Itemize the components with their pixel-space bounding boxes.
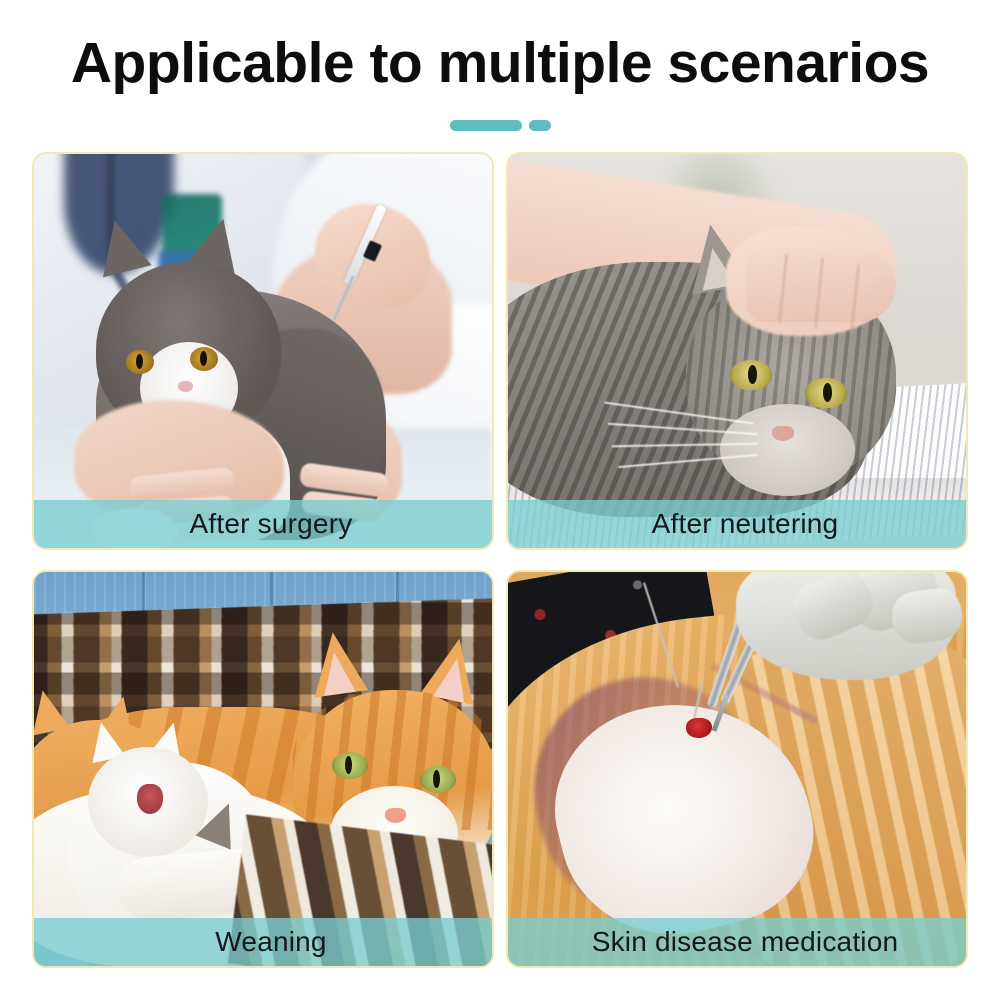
promo-page: Applicable to multiple scenarios bbox=[0, 0, 1000, 1000]
scenario-grid: After surgery bbox=[32, 152, 968, 980]
scenario-card-weaning[interactable]: Weaning bbox=[32, 570, 494, 968]
card-caption-text: Weaning bbox=[215, 926, 326, 958]
page-title: Applicable to multiple scenarios bbox=[0, 34, 1000, 94]
card-caption-bar: Weaning bbox=[34, 918, 492, 966]
photo-after-surgery bbox=[34, 154, 492, 548]
page-header: Applicable to multiple scenarios bbox=[0, 0, 1000, 150]
photo-weaning bbox=[34, 572, 492, 966]
title-divider bbox=[0, 118, 1000, 132]
scenario-card-skin-disease-medication[interactable]: Skin disease medication bbox=[506, 570, 968, 968]
scenario-card-after-surgery[interactable]: After surgery bbox=[32, 152, 494, 550]
card-caption-bar: Skin disease medication bbox=[508, 918, 966, 966]
divider-bar-long bbox=[450, 120, 522, 131]
photo-skin-disease-medication bbox=[508, 572, 966, 966]
card-caption-bar: After surgery bbox=[34, 500, 492, 548]
card-caption-text: Skin disease medication bbox=[592, 926, 899, 958]
photo-after-neutering bbox=[508, 154, 966, 548]
card-caption-text: After neutering bbox=[652, 508, 839, 540]
scenario-card-after-neutering[interactable]: After neutering bbox=[506, 152, 968, 550]
divider-bar-short bbox=[529, 120, 551, 131]
card-caption-text: After surgery bbox=[190, 508, 353, 540]
card-caption-bar: After neutering bbox=[508, 500, 966, 548]
